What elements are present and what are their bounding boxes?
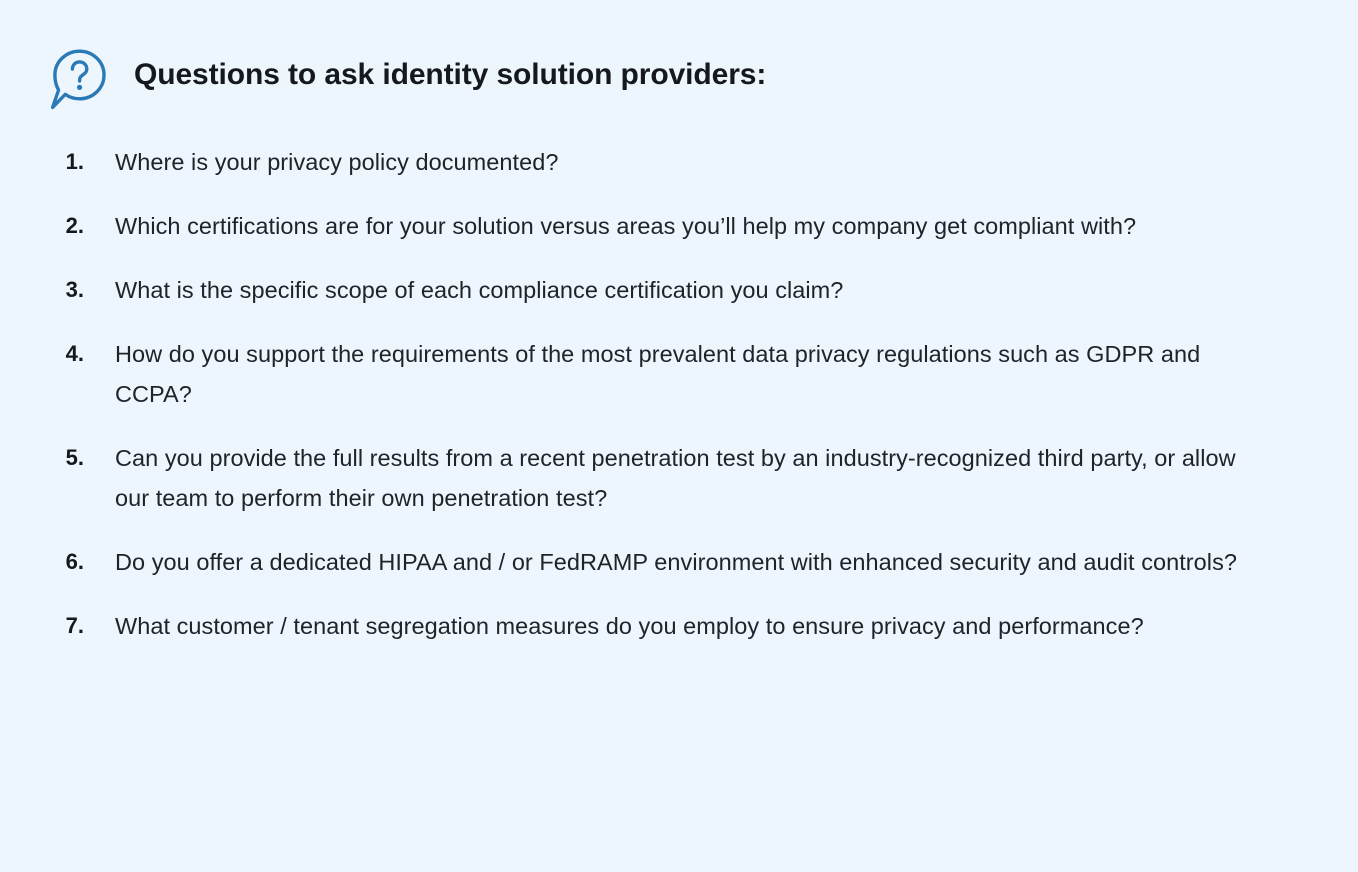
questions-list: 1. Where is your privacy policy document… xyxy=(48,142,1298,646)
list-item-text: Can you provide the full results from a … xyxy=(115,438,1245,518)
page-header: Questions to ask identity solution provi… xyxy=(48,44,1298,112)
list-item-text: Which certifications are for your soluti… xyxy=(115,206,1245,246)
list-item: 6. Do you offer a dedicated HIPAA and / … xyxy=(48,542,1298,582)
list-item-number: 5. xyxy=(48,438,84,478)
list-item-number: 6. xyxy=(48,542,84,582)
list-item: 1. Where is your privacy policy document… xyxy=(48,142,1298,182)
list-item-text: Where is your privacy policy documented? xyxy=(115,142,1245,182)
list-item-number: 7. xyxy=(48,606,84,646)
list-item-number: 1. xyxy=(48,142,84,182)
list-item-text: Do you offer a dedicated HIPAA and / or … xyxy=(115,542,1245,582)
list-item-number: 2. xyxy=(48,206,84,246)
list-item-text: What is the specific scope of each compl… xyxy=(115,270,1245,310)
list-item: 5. Can you provide the full results from… xyxy=(48,438,1298,518)
list-item-number: 4. xyxy=(48,334,84,374)
list-item-text: What customer / tenant segregation measu… xyxy=(115,606,1245,646)
list-item: 3. What is the specific scope of each co… xyxy=(48,270,1298,310)
list-item: 7. What customer / tenant segregation me… xyxy=(48,606,1298,646)
page-title: Questions to ask identity solution provi… xyxy=(134,44,766,94)
list-item: 2. Which certifications are for your sol… xyxy=(48,206,1298,246)
list-item-text: How do you support the requirements of t… xyxy=(115,334,1245,414)
question-speech-bubble-icon xyxy=(48,46,110,112)
list-item: 4. How do you support the requirements o… xyxy=(48,334,1298,414)
list-item-number: 3. xyxy=(48,270,84,310)
page-root: Questions to ask identity solution provi… xyxy=(0,0,1358,872)
